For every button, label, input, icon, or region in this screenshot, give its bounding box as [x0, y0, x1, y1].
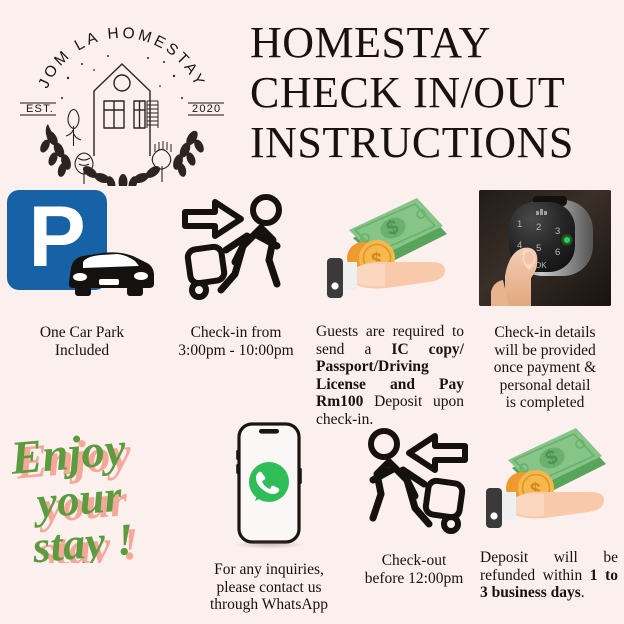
- instruction-item-check-in: Check-in from 3:00pm - 10:00pm: [162, 190, 310, 359]
- instruction-item-whatsapp: For any inquiries, please contact us thr…: [190, 422, 348, 614]
- caption-co-line-2: before 12:00pm: [344, 570, 484, 588]
- svg-text:2020: 2020: [192, 103, 221, 115]
- caption-check-in-line-2: 3:00pm - 10:00pm: [162, 342, 310, 360]
- svg-text:1: 1: [517, 219, 522, 230]
- poster-canvas: JOM LA HOMESTAY EST. 2020: [0, 0, 624, 624]
- caption-parking: One Car Park Included: [6, 324, 158, 359]
- svg-text:2: 2: [536, 222, 541, 233]
- svg-text:JOM LA HOMESTAY: JOM LA HOMESTAY: [35, 25, 208, 91]
- enjoy-your-stay-script: Enjoy Enjoy your your stay ! stay !: [6, 418, 202, 563]
- svg-text:5: 5: [536, 243, 541, 254]
- caption-refund-part-3: .: [581, 584, 585, 601]
- instruction-item-check-in-details: 1 2 3 4 5 6 OK: [470, 190, 620, 412]
- svg-text:EST.: EST.: [26, 103, 54, 115]
- caption-cid-line-1: Check-in details: [470, 324, 620, 342]
- instruction-row-1: P One Car Park Included: [0, 190, 624, 415]
- svg-text:stay !: stay !: [30, 514, 136, 563]
- title-line-1: HOMESTAY: [250, 18, 620, 68]
- caption-parking-line-2: Included: [6, 342, 158, 360]
- caption-parking-line-1: One Car Park: [6, 324, 158, 342]
- page-title: HOMESTAY CHECK IN/OUT INSTRUCTIONS: [250, 18, 620, 168]
- svg-text:3: 3: [555, 226, 560, 237]
- caption-check-in-line-1: Check-in from: [162, 324, 310, 342]
- instruction-item-documents-deposit: $ $ Guests are r: [314, 190, 466, 428]
- caption-whatsapp: For any inquiries, please contact us thr…: [190, 561, 348, 614]
- instruction-item-parking: P One Car Park Included: [6, 190, 158, 359]
- caption-check-in: Check-in from 3:00pm - 10:00pm: [162, 324, 310, 359]
- instruction-item-refund: $ $ Deposit will be refunded within 1 to…: [478, 420, 620, 602]
- caption-refund: Deposit will be refunded within 1 to 3 b…: [478, 549, 620, 602]
- caption-check-out: Check-out before 12:00pm: [344, 552, 484, 587]
- car-icon: [61, 238, 157, 300]
- phone-shadow: [233, 540, 305, 549]
- money-in-hand-icon-refund: $ $: [484, 420, 614, 535]
- caption-cid-line-2: will be provided: [470, 342, 620, 360]
- caption-wa-line-3: through WhatsApp: [190, 596, 348, 614]
- caption-cid-line-3: once payment &: [470, 359, 620, 377]
- title-line-2: CHECK IN/OUT: [250, 68, 620, 118]
- caption-wa-line-1: For any inquiries,: [190, 561, 348, 579]
- traveller-left-arrow-icon: [355, 424, 473, 536]
- caption-wa-line-2: please contact us: [190, 579, 348, 597]
- caption-cid-line-4: personal detail: [470, 377, 620, 395]
- instruction-row-2: Enjoy Enjoy your your stay ! stay !: [0, 418, 624, 624]
- poster-header: JOM LA HOMESTAY EST. 2020: [0, 0, 624, 190]
- smart-door-lock-keypad-photo: 1 2 3 4 5 6 OK: [479, 190, 611, 306]
- instruction-item-check-out: Check-out before 12:00pm: [344, 424, 484, 587]
- caption-cid-line-5: is completed: [470, 394, 620, 412]
- title-line-3: INSTRUCTIONS: [250, 118, 620, 168]
- caption-documents-deposit: Guests are required to send a IC copy/ P…: [314, 323, 466, 428]
- caption-co-line-1: Check-out: [344, 552, 484, 570]
- parking-sign-car-icon: P: [7, 190, 157, 302]
- caption-check-in-details: Check-in details will be provided once p…: [470, 324, 620, 412]
- money-in-hand-icon: $ $: [325, 190, 455, 305]
- smartphone-whatsapp-icon: [219, 422, 319, 547]
- svg-text:6: 6: [555, 247, 560, 258]
- brand-logo: JOM LA HOMESTAY EST. 2020: [8, 6, 236, 186]
- traveller-right-arrow-icon: [177, 190, 295, 302]
